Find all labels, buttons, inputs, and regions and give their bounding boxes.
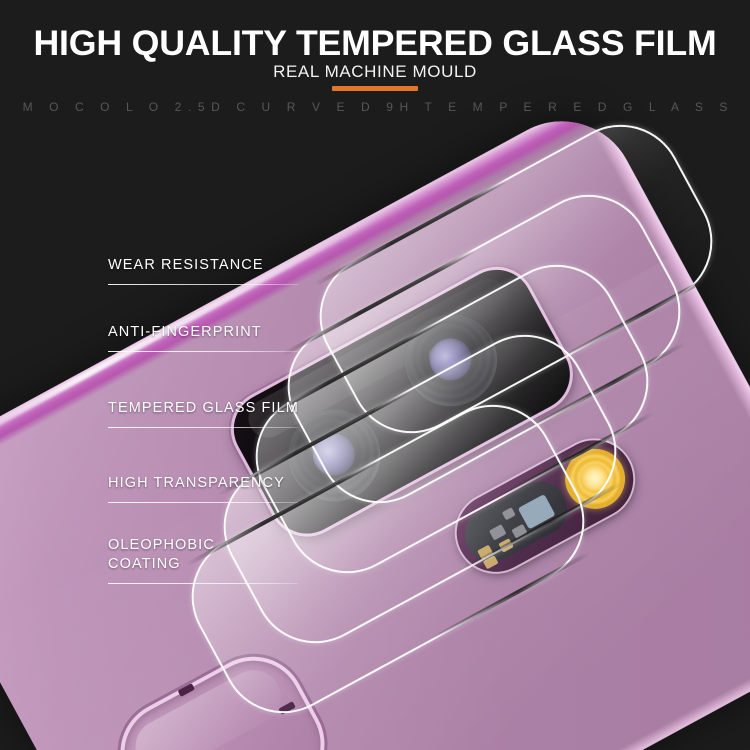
feature-callout-tempered-glass-film: TEMPERED GLASS FILM [108, 399, 338, 428]
feature-callout-high-transparency: HIGH TRANSPARENCY [108, 474, 338, 503]
feature-label: WEAR RESISTANCE [108, 256, 338, 275]
feature-underline [108, 427, 298, 428]
feature-callout-wear-resistance: WEAR RESISTANCE [108, 256, 338, 285]
feature-label: HIGH TRANSPARENCY [108, 474, 338, 493]
feature-callout-oleophobic-coating: OLEOPHOBIC COATING [108, 536, 338, 584]
feature-callout-anti-fingerprint: ANTI-FINGERPRINT [108, 323, 338, 352]
feature-label: OLEOPHOBIC COATING [108, 536, 258, 574]
feature-label: TEMPERED GLASS FILM [108, 399, 338, 418]
feature-underline [108, 351, 298, 352]
feature-label: ANTI-FINGERPRINT [108, 323, 338, 342]
feature-underline [108, 502, 298, 503]
feature-callout-list: WEAR RESISTANCE ANTI-FINGERPRINT TEMPERE… [0, 0, 750, 750]
product-banner: HIGH QUALITY TEMPERED GLASS FILM REAL MA… [0, 0, 750, 750]
feature-underline [108, 284, 298, 285]
feature-underline [108, 583, 298, 584]
